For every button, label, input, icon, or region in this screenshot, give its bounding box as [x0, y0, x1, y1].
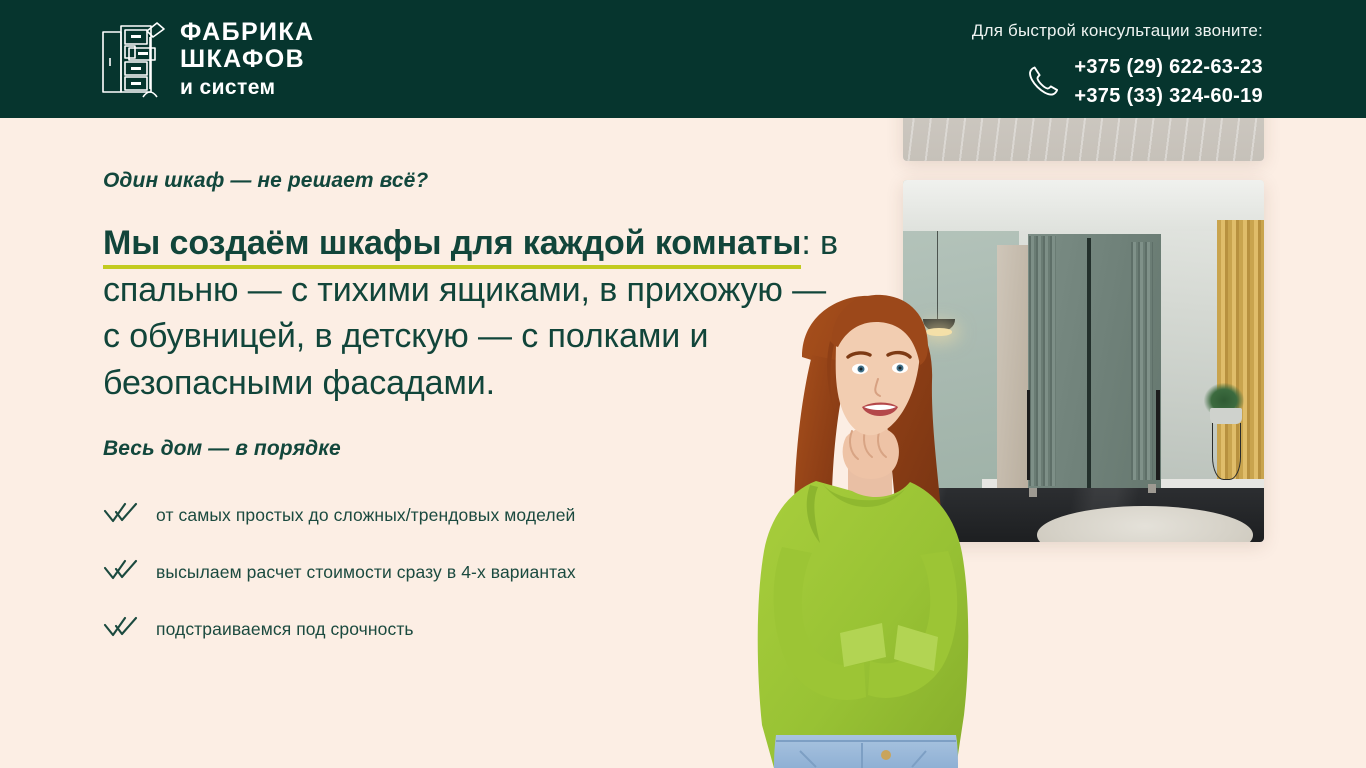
contact-label: Для быстрой консультации звоните:: [972, 20, 1263, 42]
hero-subline: Весь дом — в порядке: [103, 437, 863, 461]
list-item: подстраиваемся под срочность: [103, 615, 863, 644]
list-item: высылаем расчет стоимости сразу в 4-х ва…: [103, 558, 863, 587]
list-item-label: от самых простых до сложных/трендовых мо…: [156, 504, 575, 527]
benefits-list: от самых простых до сложных/трендовых мо…: [103, 501, 863, 644]
hero-eyebrow: Один шкаф — не решает всё?: [103, 168, 863, 194]
logo-line-1: ФАБРИКА: [180, 19, 315, 46]
wardrobe-room-photo-main: [903, 180, 1264, 542]
phone-number-1[interactable]: +375 (29) 622-63-23: [1074, 55, 1263, 80]
site-header: ФАБРИКА ШКАФОВ и систем Для быстрой конс…: [0, 0, 1366, 118]
list-item: от самых простых до сложных/трендовых мо…: [103, 501, 863, 530]
logo-line-2: ШКАФОВ: [180, 46, 315, 73]
double-check-icon: [103, 615, 139, 644]
list-item-label: высылаем расчет стоимости сразу в 4-х ва…: [156, 561, 576, 584]
double-check-icon: [103, 558, 139, 587]
phone-handset-icon: [1024, 63, 1058, 102]
hero-content: Один шкаф — не решает всё? Мы создаём шк…: [103, 168, 863, 644]
logo[interactable]: ФАБРИКА ШКАФОВ и систем: [100, 18, 315, 102]
header-contact-block: Для быстрой консультации звоните: +375 (…: [972, 20, 1263, 109]
phone-number-2[interactable]: +375 (33) 324-60-19: [1074, 84, 1263, 109]
headline-emphasis: Мы создаём шкафы для каждой комнаты: [103, 224, 801, 269]
page-title: Мы создаём шкафы для каждой комнаты: в с…: [103, 220, 848, 406]
double-check-icon: [103, 501, 139, 530]
wardrobe-cabinet-icon: [100, 18, 166, 102]
logo-line-3: и систем: [180, 75, 315, 100]
list-item-label: подстраиваемся под срочность: [156, 618, 414, 641]
